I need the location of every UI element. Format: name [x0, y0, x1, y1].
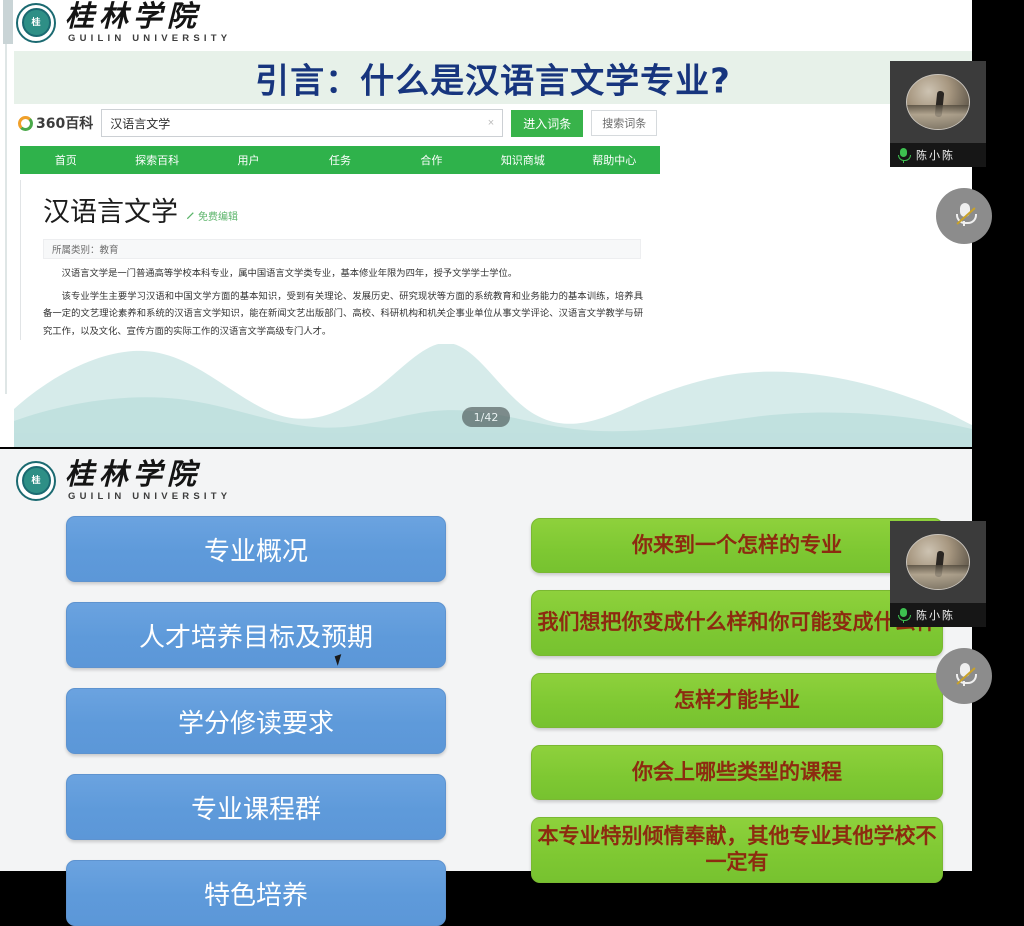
- article-category: 所属类别：教育: [43, 239, 641, 259]
- baike-brand-label: 360百科: [36, 113, 93, 133]
- outline-button-talent-goals[interactable]: 人才培养目标及预期: [66, 602, 446, 668]
- pencil-icon: [186, 211, 195, 220]
- participant-video-thumb-bottom: [890, 521, 986, 603]
- article-category-label: 所属类别：教育: [52, 242, 119, 256]
- outline-button-course-groups[interactable]: 专业课程群: [66, 774, 446, 840]
- baike-screenshot: 360百科 汉语言文学 × 进入词条 搜索词条 首页 探索百科 用户 任务 合作…: [14, 104, 660, 344]
- baike-search-input[interactable]: 汉语言文学 ×: [101, 109, 503, 137]
- participant-name-top: 陈小陈: [916, 147, 955, 163]
- nav-item-task[interactable]: 任务: [294, 152, 385, 168]
- participant-name-bottom: 陈小陈: [916, 607, 955, 623]
- slide-title-band: 引言：什么是汉语言文学专业?: [14, 51, 972, 104]
- university-name-cn: 桂林学院: [65, 2, 231, 31]
- participant-video-thumb-top: [890, 61, 986, 143]
- article-paragraph-1: 汉语言文学是一门普通高等学校本科专业，属中国语言文学类专业，基本修业年限为四年，…: [43, 265, 643, 282]
- outline-button-credit-requirements[interactable]: 学分修读要求: [66, 688, 446, 754]
- outline-note-how-to-graduate[interactable]: 怎样才能毕业: [531, 673, 943, 728]
- slide-title: 引言：什么是汉语言文学专业?: [14, 53, 972, 102]
- participant-tile-top[interactable]: 陈小陈: [890, 61, 986, 167]
- nav-item-home[interactable]: 首页: [20, 152, 111, 168]
- avatar: [906, 74, 970, 130]
- university-logo: 桂 桂林学院 GUILIN UNIVERSITY: [16, 2, 231, 44]
- outline-note-course-types[interactable]: 你会上哪些类型的课程: [531, 745, 943, 800]
- baike-article: 汉语言文学 免费编辑 所属类别：教育 汉语言文学是一门普通高等学校本科专业，属中…: [20, 180, 661, 340]
- nav-item-user[interactable]: 用户: [203, 152, 294, 168]
- article-heading-row: 汉语言文学 免费编辑: [43, 190, 661, 229]
- university-logo-slide2: 桂 桂林学院 GUILIN UNIVERSITY: [16, 460, 231, 502]
- baike-search-value: 汉语言文学: [110, 115, 170, 132]
- outline-left-column: 专业概况 人才培养目标及预期 学分修读要求 专业课程群 特色培养: [66, 516, 446, 926]
- avatar-2: [906, 534, 970, 590]
- article-title: 汉语言文学: [43, 190, 178, 229]
- search-entry-button[interactable]: 搜索词条: [591, 110, 657, 136]
- participant-namebar-bottom: 陈小陈: [890, 603, 986, 627]
- university-name-en-2: GUILIN UNIVERSITY: [68, 492, 231, 502]
- article-paragraph-2: 该专业学生主要学习汉语和中国文学方面的基本知识，受到有关理论、发展历史、研究现状…: [43, 288, 643, 340]
- university-name-cn-2: 桂林学院: [65, 460, 231, 489]
- outline-note-special-offering[interactable]: 本专业特别倾情奉献，其他专业其他学校不一定有: [531, 817, 943, 883]
- university-emblem-icon: 桂: [16, 3, 56, 43]
- mountains-svg: [14, 337, 972, 447]
- free-edit-link[interactable]: 免费编辑: [186, 208, 238, 229]
- baike-navbar: 首页 探索百科 用户 任务 合作 知识商城 帮助中心: [20, 146, 660, 174]
- enter-entry-button[interactable]: 进入词条: [511, 110, 583, 137]
- participant-tile-bottom[interactable]: 陈小陈: [890, 521, 986, 627]
- clear-icon[interactable]: ×: [488, 117, 494, 129]
- free-edit-label: 免费编辑: [198, 208, 238, 223]
- baike-brand: 360百科: [18, 113, 93, 133]
- outline-button-major-overview[interactable]: 专业概况: [66, 516, 446, 582]
- microphone-muted-icon-2: [956, 663, 973, 689]
- nav-item-help-center[interactable]: 帮助中心: [569, 152, 660, 168]
- nav-item-explore[interactable]: 探索百科: [111, 152, 202, 168]
- slide-1-intro: 桂 桂林学院 GUILIN UNIVERSITY 引言：什么是汉语言文学专业? …: [0, 0, 972, 447]
- outline-note-become-what[interactable]: 我们想把你变成什么样和你可能变成什么样: [531, 590, 943, 656]
- university-emblem-icon-2: 桂: [16, 461, 56, 501]
- microphone-muted-icon: [956, 203, 973, 229]
- mute-toggle-button-bottom[interactable]: [936, 648, 992, 704]
- outline-right-column: 你来到一个怎样的专业 我们想把你变成什么样和你可能变成什么样 怎样才能毕业 你会…: [531, 518, 943, 883]
- slide-left-edge-strip: [0, 0, 14, 447]
- page-indicator: 1/42: [462, 407, 510, 427]
- outline-note-what-major[interactable]: 你来到一个怎样的专业: [531, 518, 943, 573]
- baike-search-row: 360百科 汉语言文学 × 进入词条 搜索词条: [14, 107, 660, 139]
- nav-item-knowledge-mall[interactable]: 知识商城: [477, 152, 568, 168]
- outline-button-special-training[interactable]: 特色培养: [66, 860, 446, 926]
- baike-logo-icon: [18, 116, 33, 131]
- mute-toggle-button-top[interactable]: [936, 188, 992, 244]
- microphone-icon-2: [898, 608, 909, 623]
- meeting-screen-share: 桂 桂林学院 GUILIN UNIVERSITY 引言：什么是汉语言文学专业? …: [0, 0, 1024, 871]
- participant-namebar-top: 陈小陈: [890, 143, 986, 167]
- university-name-en: GUILIN UNIVERSITY: [68, 34, 231, 44]
- microphone-icon: [898, 148, 909, 163]
- nav-item-cooperation[interactable]: 合作: [386, 152, 477, 168]
- decorative-mountains: [14, 337, 972, 447]
